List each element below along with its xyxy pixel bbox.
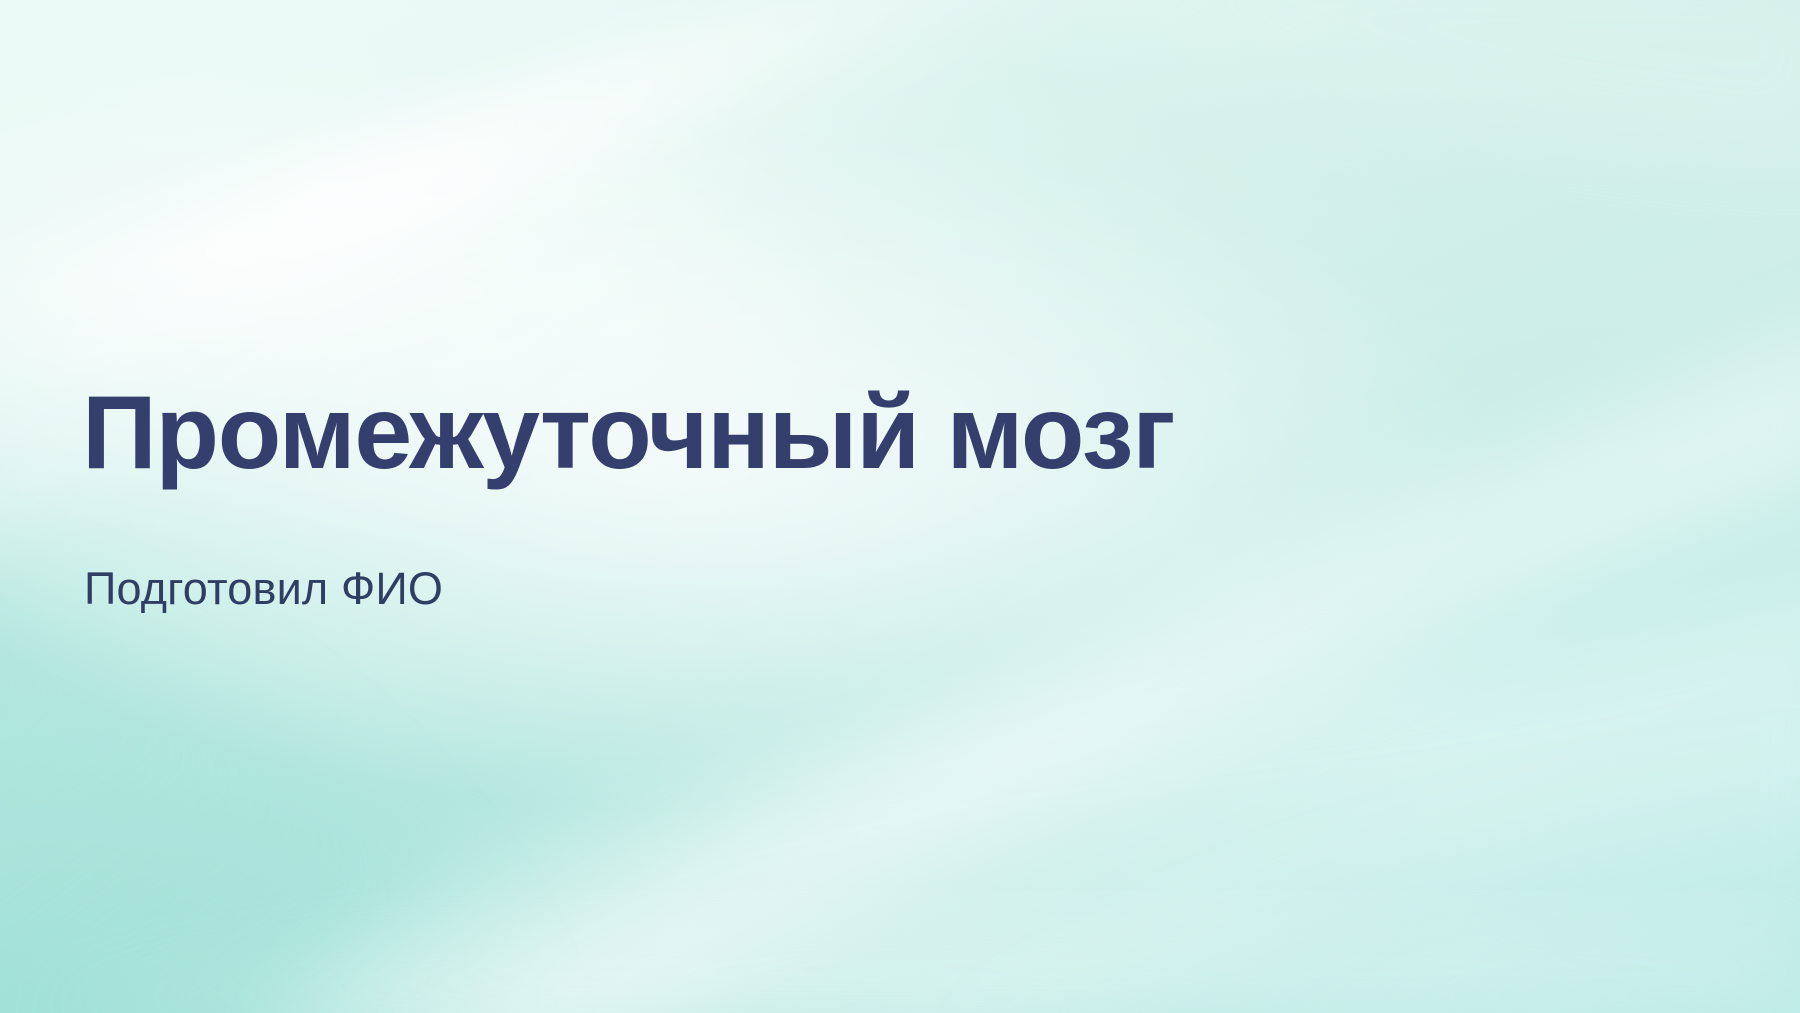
slide-content: Промежуточный мозг Подготовил ФИО bbox=[0, 0, 1800, 1013]
slide-subtitle: Подготовил ФИО bbox=[84, 562, 443, 616]
slide-title: Промежуточный мозг bbox=[82, 378, 1174, 488]
title-slide: Промежуточный мозг Подготовил ФИО bbox=[0, 0, 1800, 1013]
